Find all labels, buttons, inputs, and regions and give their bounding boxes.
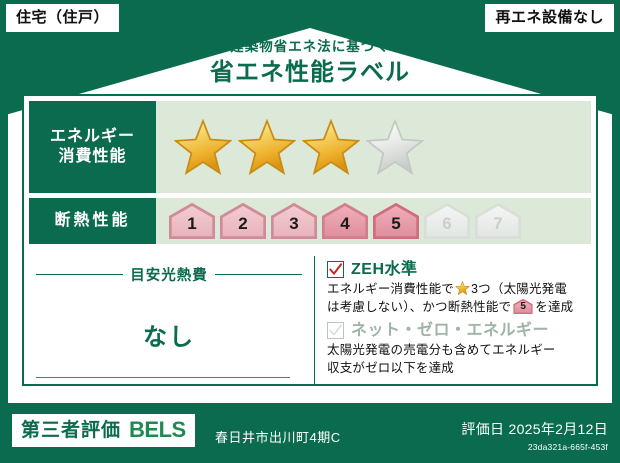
insulation-label: 断熱性能 [29, 198, 156, 244]
insulation-badge-7: 7 [474, 203, 522, 239]
insulation-label-text: 断熱性能 [54, 211, 130, 231]
footer: 第三者評価 BELS 春日井市出川町4期C 評価日 2025年2月12日 23d… [0, 403, 620, 463]
renewable-energy-tag: 再エネ設備なし [485, 4, 614, 32]
energy-performance-label: 住宅（住戸） 再エネ設備なし 建築物省エネ法に基づく 省エネ性能ラベル エネルギ… [0, 0, 620, 463]
energy-cost-panel: 目安光熱費 なし [24, 256, 314, 386]
insulation-badge-5: 5 [372, 203, 420, 239]
title-sub: 建築物省エネ法に基づく [14, 40, 606, 55]
insulation-badge-inline: 5 [513, 299, 533, 314]
net-zero-checkbox-unchecked[interactable] [327, 322, 344, 339]
zeh-standard-header: ZEH水準 [327, 261, 588, 278]
energy-consumption-label-line1: エネルギー [50, 127, 135, 147]
zeh-standard-description: エネルギー消費性能で3つ（太陽光発電 は考慮しない）、かつ断熱性能で5を達成 [327, 280, 588, 316]
lower-section: 目安光熱費 なし ZEH水準 [24, 256, 596, 386]
net-zero-title: ネット・ゼロ・エネルギー [351, 323, 549, 339]
energy-cost-title-text: 目安光熱費 [130, 264, 208, 285]
insulation-badge-label: 7 [493, 215, 502, 239]
bels-logo-jp: 第三者評価 [21, 421, 121, 440]
zeh-panel: ZEH水準 エネルギー消費性能で3つ（太陽光発電 は考慮しない）、かつ断熱性能で… [314, 256, 596, 386]
insulation-badge-4: 4 [321, 203, 369, 239]
net-zero-desc-line1: 太陽光発電の売電分も含めてエネルギー [327, 343, 556, 357]
net-zero-header: ネット・ゼロ・エネルギー [327, 322, 588, 339]
energy-cost-value: なし [36, 317, 302, 352]
energy-consumption-stars [156, 101, 591, 193]
zeh-desc-part2: は考慮しない）、かつ断熱性能で [327, 300, 511, 314]
bels-logo: 第三者評価 BELS [12, 414, 195, 447]
building-type-tag: 住宅（住戸） [6, 4, 119, 32]
zeh-standard-title: ZEH水準 [351, 262, 418, 278]
evaluation-id: 23da321a-665f-453f [461, 442, 608, 452]
site-address: 春日井市出川町4期C [215, 427, 341, 446]
evaluation-date: 評価日 2025年2月12日 [461, 419, 608, 439]
star-icon-filled-1 [174, 119, 232, 175]
divider [36, 377, 290, 379]
zeh-standard-block: ZEH水準 エネルギー消費性能で3つ（太陽光発電 は考慮しない）、かつ断熱性能で… [327, 261, 588, 316]
rule-left [36, 274, 123, 276]
zeh-desc-part3: を達成 [535, 300, 573, 314]
insulation-levels: 1 2 3 4 [156, 198, 591, 244]
metrics-box: エネルギー 消費性能 [22, 94, 598, 386]
insulation-badge-label: 3 [289, 215, 298, 239]
zeh-desc-stars: 3つ（太陽光発電 [471, 282, 567, 296]
energy-consumption-row: エネルギー 消費性能 [29, 101, 591, 193]
insulation-badge-label: 5 [391, 215, 400, 239]
zeh-desc-part1: エネルギー消費性能で [327, 282, 454, 296]
energy-consumption-label: エネルギー 消費性能 [29, 101, 156, 193]
evaluation-info: 評価日 2025年2月12日 23da321a-665f-453f [461, 419, 608, 452]
page-title: 建築物省エネ法に基づく 省エネ性能ラベル [14, 40, 606, 86]
star-icon-filled-2 [238, 119, 296, 175]
label-content: 建築物省エネ法に基づく 省エネ性能ラベル エネルギー 消費性能 [14, 34, 606, 397]
star-icon-filled-3 [302, 119, 360, 175]
insulation-row: 断熱性能 1 2 3 [29, 198, 591, 244]
title-main: 省エネ性能ラベル [14, 60, 606, 86]
insulation-badge-label: 6 [442, 215, 451, 239]
insulation-badge-label: 4 [340, 215, 349, 239]
energy-consumption-label-line2: 消費性能 [58, 147, 126, 167]
net-zero-description: 太陽光発電の売電分も含めてエネルギー 収支がゼロ以下を達成 [327, 341, 588, 377]
energy-cost-title: 目安光熱費 [36, 264, 302, 285]
zeh-checkbox-checked[interactable] [327, 261, 344, 278]
bels-logo-en: BELS [129, 419, 186, 441]
star-icon-empty-4 [366, 119, 424, 175]
insulation-badge-label: 1 [187, 215, 196, 239]
insulation-badge-label: 2 [238, 215, 247, 239]
insulation-badge-1: 1 [168, 203, 216, 239]
star-icon-inline [455, 281, 470, 295]
insulation-badge-2: 2 [219, 203, 267, 239]
insulation-badge-6: 6 [423, 203, 471, 239]
net-zero-desc-line2: 収支がゼロ以下を達成 [327, 361, 454, 375]
insulation-badge-3: 3 [270, 203, 318, 239]
rule-right [215, 274, 302, 276]
net-zero-block: ネット・ゼロ・エネルギー 太陽光発電の売電分も含めてエネルギー 収支がゼロ以下を… [327, 322, 588, 377]
